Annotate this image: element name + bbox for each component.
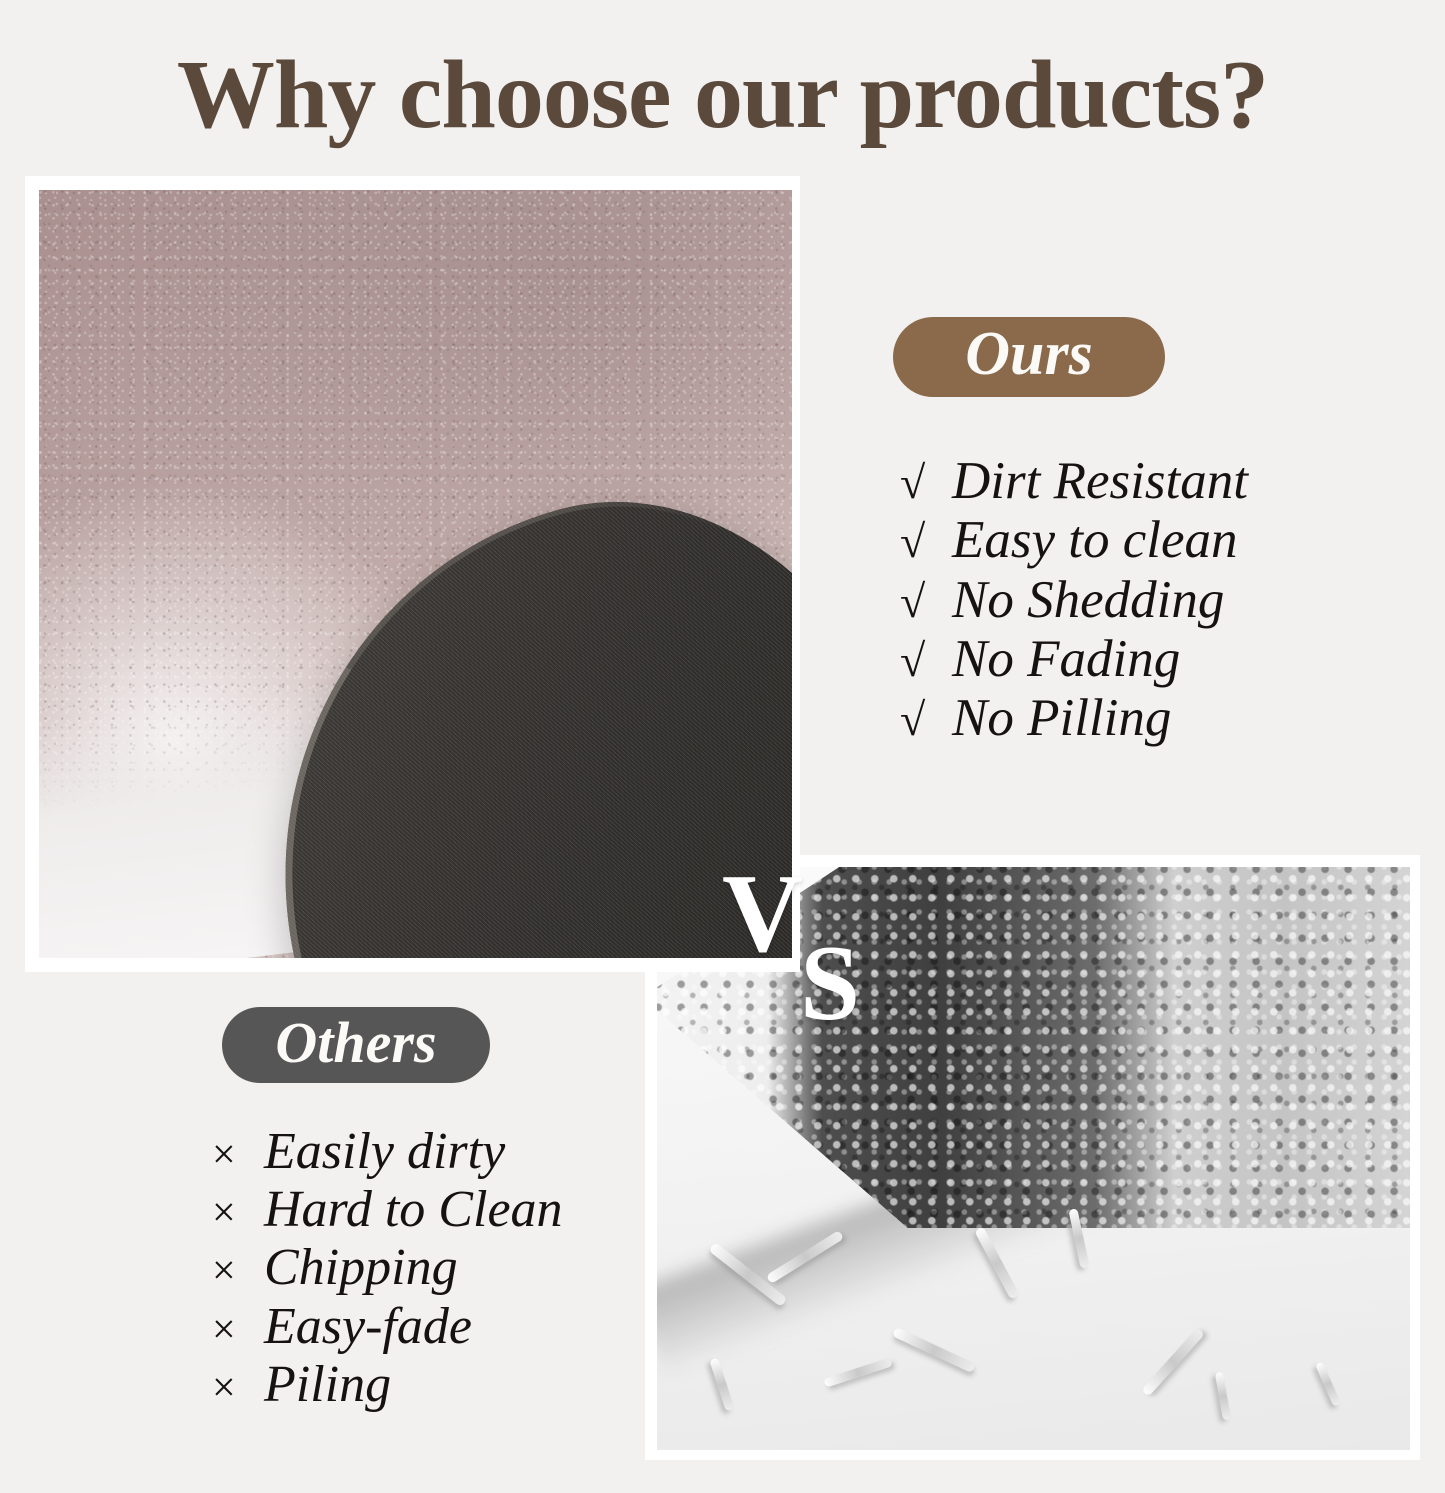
feature-label: No Fading xyxy=(952,630,1180,689)
list-item: √ No Fading xyxy=(900,630,1248,689)
shed-thread xyxy=(1142,1327,1206,1396)
cross-icon: × xyxy=(212,1307,264,1354)
list-item: × Piling xyxy=(212,1356,563,1414)
versus-letter-v: V xyxy=(722,858,803,970)
check-icon: √ xyxy=(900,694,952,746)
feature-label: Hard to Clean xyxy=(264,1181,563,1239)
feature-label: Chipping xyxy=(264,1239,458,1297)
versus-letter-s: S xyxy=(800,930,860,1038)
shed-thread xyxy=(1215,1371,1231,1420)
cross-icon: × xyxy=(212,1365,264,1412)
infographic-page: Why choose our products? V S Ours xyxy=(0,0,1445,1493)
ours-product-photo xyxy=(39,190,792,958)
list-item: √ No Pilling xyxy=(900,689,1248,748)
check-icon: √ xyxy=(900,516,952,568)
cross-icon: × xyxy=(212,1190,264,1237)
check-icon: √ xyxy=(900,457,952,509)
list-item: √ Easy to clean xyxy=(900,511,1248,570)
list-item: × Easy-fade xyxy=(212,1298,563,1356)
others-feature-list: × Easily dirty × Hard to Clean × Chippin… xyxy=(212,1123,563,1414)
feature-label: Easy-fade xyxy=(264,1298,472,1356)
shed-thread xyxy=(709,1357,734,1411)
shed-thread xyxy=(1315,1361,1341,1406)
cross-icon: × xyxy=(212,1248,264,1295)
list-item: × Hard to Clean xyxy=(212,1181,563,1239)
list-item: × Chipping xyxy=(212,1239,563,1297)
ours-badge: Ours xyxy=(893,317,1165,397)
check-icon: √ xyxy=(900,576,952,628)
feature-label: Dirt Resistant xyxy=(952,452,1248,511)
feature-label: Piling xyxy=(264,1356,391,1414)
feature-label: Easily dirty xyxy=(264,1123,505,1181)
feature-label: Easy to clean xyxy=(952,511,1238,570)
shed-thread xyxy=(823,1358,892,1388)
feature-label: No Pilling xyxy=(952,689,1171,748)
page-title: Why choose our products? xyxy=(0,44,1445,147)
feature-label: No Shedding xyxy=(952,571,1224,630)
list-item: × Easily dirty xyxy=(212,1123,563,1181)
cross-icon: × xyxy=(212,1132,264,1179)
others-badge: Others xyxy=(222,1007,490,1083)
ours-photo-card xyxy=(25,176,800,972)
ours-feature-list: √ Dirt Resistant √ Easy to clean √ No Sh… xyxy=(900,452,1248,749)
list-item: √ No Shedding xyxy=(900,571,1248,630)
list-item: √ Dirt Resistant xyxy=(900,452,1248,511)
shed-thread xyxy=(892,1327,976,1373)
check-icon: √ xyxy=(900,635,952,687)
